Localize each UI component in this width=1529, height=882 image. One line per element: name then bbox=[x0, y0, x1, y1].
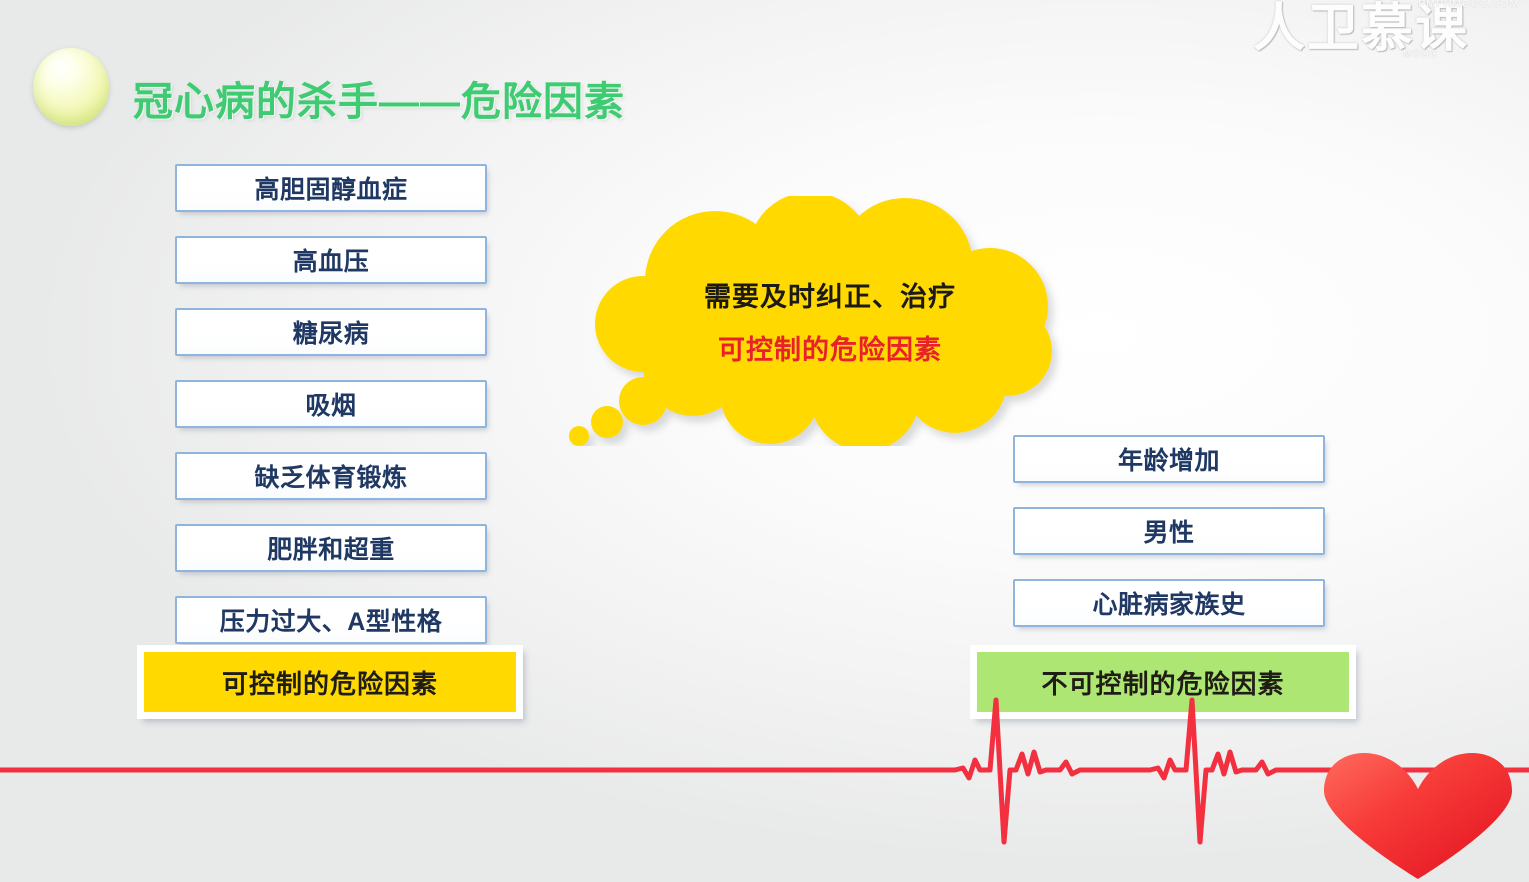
thought-cloud-text: 需要及时纠正、治疗 可控制的危险因素 bbox=[565, 196, 1085, 446]
watermark-sub-text: MOOC bbox=[1403, 49, 1438, 60]
list-item[interactable]: 男性 bbox=[1013, 507, 1325, 555]
thought-cloud: 需要及时纠正、治疗 可控制的危险因素 bbox=[565, 196, 1085, 446]
watermark-domain-text: PMPHMOOC.COM bbox=[1418, 0, 1519, 10]
title-bullet-sphere-icon bbox=[33, 48, 109, 126]
slide-canvas: 人卫慕课 PMPHMOOC.COM MOOC 冠心病的杀手——危险因素 高胆固醇… bbox=[0, 0, 1529, 882]
list-item[interactable]: 高血压 bbox=[175, 236, 487, 284]
ecg-waveform-icon bbox=[0, 682, 1529, 882]
controllable-factor-list: 高胆固醇血症 高血压 糖尿病 吸烟 缺乏体育锻炼 肥胖和超重 压力过大、A型性格 bbox=[175, 164, 487, 668]
factor-label: 吸烟 bbox=[305, 386, 356, 422]
factor-label: 心脏病家族史 bbox=[1092, 585, 1245, 621]
uncontrollable-factor-list: 年龄增加 男性 心脏病家族史 bbox=[1013, 435, 1325, 651]
cloud-line-1: 需要及时纠正、治疗 bbox=[704, 275, 956, 314]
list-item[interactable]: 肥胖和超重 bbox=[175, 524, 487, 572]
list-item[interactable]: 心脏病家族史 bbox=[1013, 579, 1325, 627]
factor-label: 缺乏体育锻炼 bbox=[254, 458, 407, 494]
factor-label: 压力过大、A型性格 bbox=[220, 602, 443, 638]
factor-label: 男性 bbox=[1143, 513, 1194, 549]
factor-label: 高胆固醇血症 bbox=[254, 170, 407, 206]
list-item[interactable]: 糖尿病 bbox=[175, 308, 487, 356]
watermark-logo: 人卫慕课 PMPHMOOC.COM MOOC bbox=[1253, 0, 1523, 60]
factor-label: 年龄增加 bbox=[1118, 441, 1220, 477]
list-item[interactable]: 吸烟 bbox=[175, 380, 487, 428]
heart-icon bbox=[1318, 751, 1518, 881]
cloud-line-2: 可控制的危险因素 bbox=[718, 328, 942, 367]
list-item[interactable]: 高胆固醇血症 bbox=[175, 164, 487, 212]
list-item[interactable]: 压力过大、A型性格 bbox=[175, 596, 487, 644]
factor-label: 糖尿病 bbox=[293, 314, 370, 350]
factor-label: 高血压 bbox=[293, 242, 370, 278]
watermark-logo-text: 人卫慕课 bbox=[1253, 0, 1469, 58]
page-title: 冠心病的杀手——危险因素 bbox=[133, 69, 625, 127]
list-item[interactable]: 缺乏体育锻炼 bbox=[175, 452, 487, 500]
factor-label: 肥胖和超重 bbox=[267, 530, 395, 566]
